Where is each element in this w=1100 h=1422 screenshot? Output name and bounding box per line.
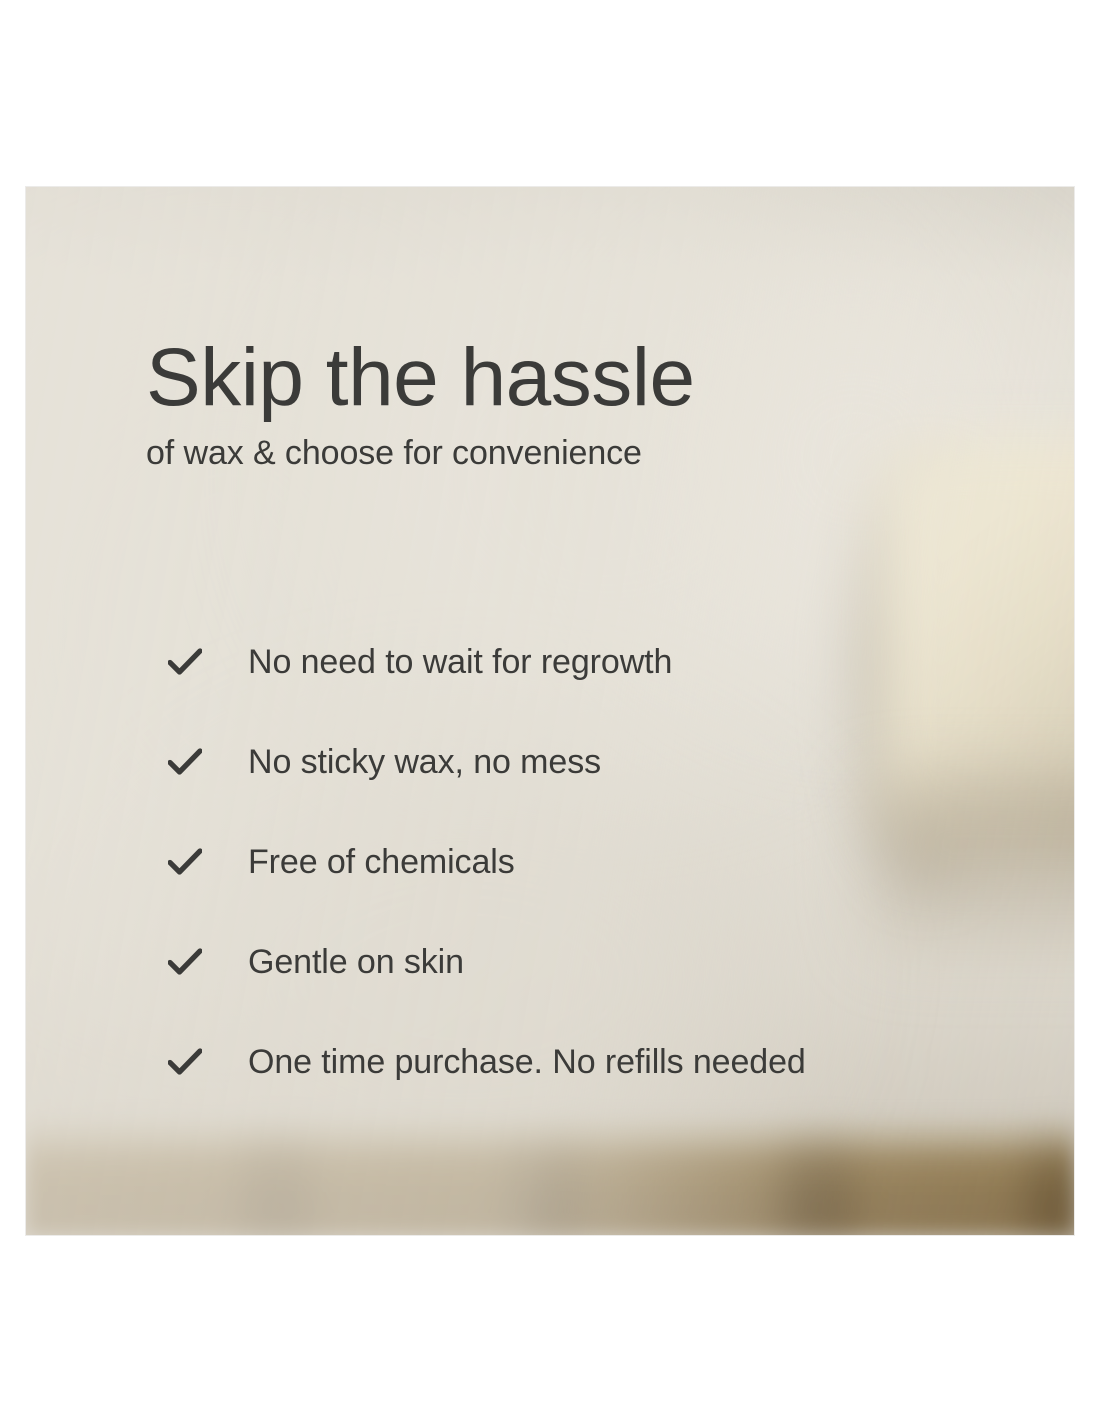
list-item: No need to wait for regrowth xyxy=(146,612,1046,712)
list-item: No sticky wax, no mess xyxy=(146,712,1046,812)
benefits-list: No need to wait for regrowth No sticky w… xyxy=(146,612,1046,1112)
page-canvas: Skip the hassle of wax & choose for conv… xyxy=(0,0,1100,1422)
check-icon xyxy=(146,648,208,676)
check-icon xyxy=(146,848,208,876)
benefit-label: No sticky wax, no mess xyxy=(248,743,601,782)
subheadline: of wax & choose for convenience xyxy=(146,435,1046,472)
list-item: Free of chemicals xyxy=(146,812,1046,912)
benefit-label: One time purchase. No refills needed xyxy=(248,1043,806,1082)
list-item: Gentle on skin xyxy=(146,912,1046,1012)
list-item: One time purchase. No refills needed xyxy=(146,1012,1046,1112)
headline: Skip the hassle xyxy=(146,337,1046,419)
benefit-label: Gentle on skin xyxy=(248,943,464,982)
check-icon xyxy=(146,948,208,976)
check-icon xyxy=(146,748,208,776)
promo-panel: Skip the hassle of wax & choose for conv… xyxy=(26,187,1074,1235)
benefit-label: Free of chemicals xyxy=(248,843,515,882)
benefit-label: No need to wait for regrowth xyxy=(248,643,672,682)
check-icon xyxy=(146,1048,208,1076)
promo-content: Skip the hassle of wax & choose for conv… xyxy=(146,337,1046,472)
